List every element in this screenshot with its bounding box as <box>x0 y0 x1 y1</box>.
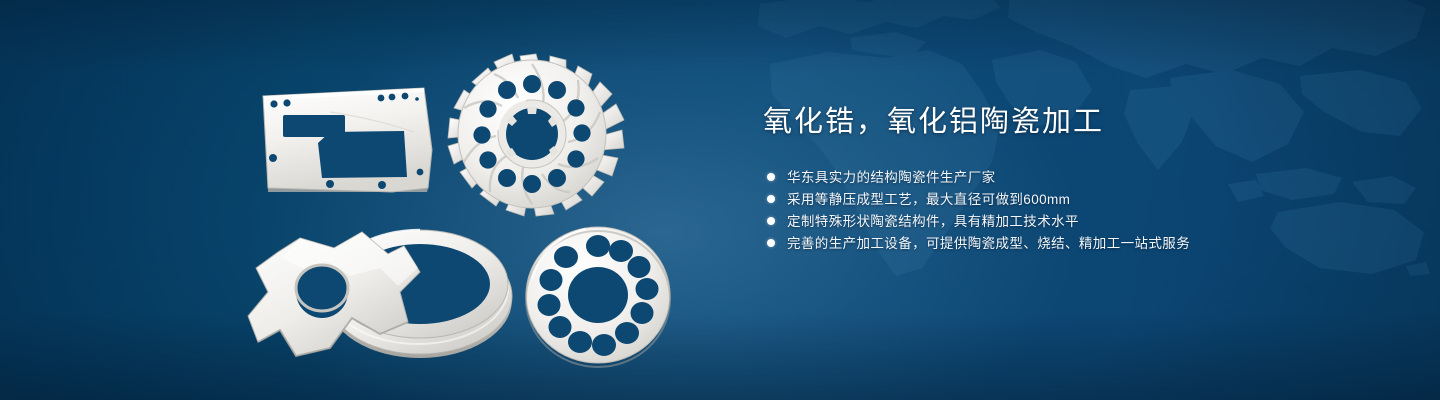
bullet-dot-icon <box>767 173 775 181</box>
ceramic-cross-plate-and-rings <box>248 230 512 358</box>
ceramic-impeller-disc <box>448 54 624 216</box>
list-item: 采用等静压成型工艺，最大直径可做到600mm <box>767 188 1383 210</box>
feature-text: 定制特殊形状陶瓷结构件，具有精加工技术水平 <box>787 215 1079 229</box>
ceramic-processing-banner: 氧化锆，氧化铝陶瓷加工 华东具实力的结构陶瓷件生产厂家 采用等静压成型工艺，最大… <box>0 0 1440 400</box>
bullet-dot-icon <box>767 217 775 225</box>
bullet-dot-icon <box>767 195 775 203</box>
list-item: 华东具实力的结构陶瓷件生产厂家 <box>767 166 1383 188</box>
feature-list: 华东具实力的结构陶瓷件生产厂家 采用等静压成型工艺，最大直径可做到600mm 定… <box>763 166 1383 254</box>
ceramic-machined-plate <box>263 88 432 192</box>
banner-copy: 氧化锆，氧化铝陶瓷加工 华东具实力的结构陶瓷件生产厂家 采用等静压成型工艺，最大… <box>763 104 1383 254</box>
banner-headline: 氧化锆，氧化铝陶瓷加工 <box>763 104 1383 140</box>
list-item: 定制特殊形状陶瓷结构件，具有精加工技术水平 <box>767 210 1383 232</box>
list-item: 完善的生产加工设备，可提供陶瓷成型、烧结、精加工一站式服务 <box>767 232 1383 254</box>
ceramic-products-collage <box>0 0 720 400</box>
bullet-dot-icon <box>767 239 775 247</box>
ceramic-perforated-disc <box>526 227 670 367</box>
feature-text: 采用等静压成型工艺，最大直径可做到600mm <box>787 193 1070 207</box>
feature-text: 华东具实力的结构陶瓷件生产厂家 <box>787 171 996 185</box>
feature-text: 完善的生产加工设备，可提供陶瓷成型、烧结、精加工一站式服务 <box>787 237 1190 251</box>
